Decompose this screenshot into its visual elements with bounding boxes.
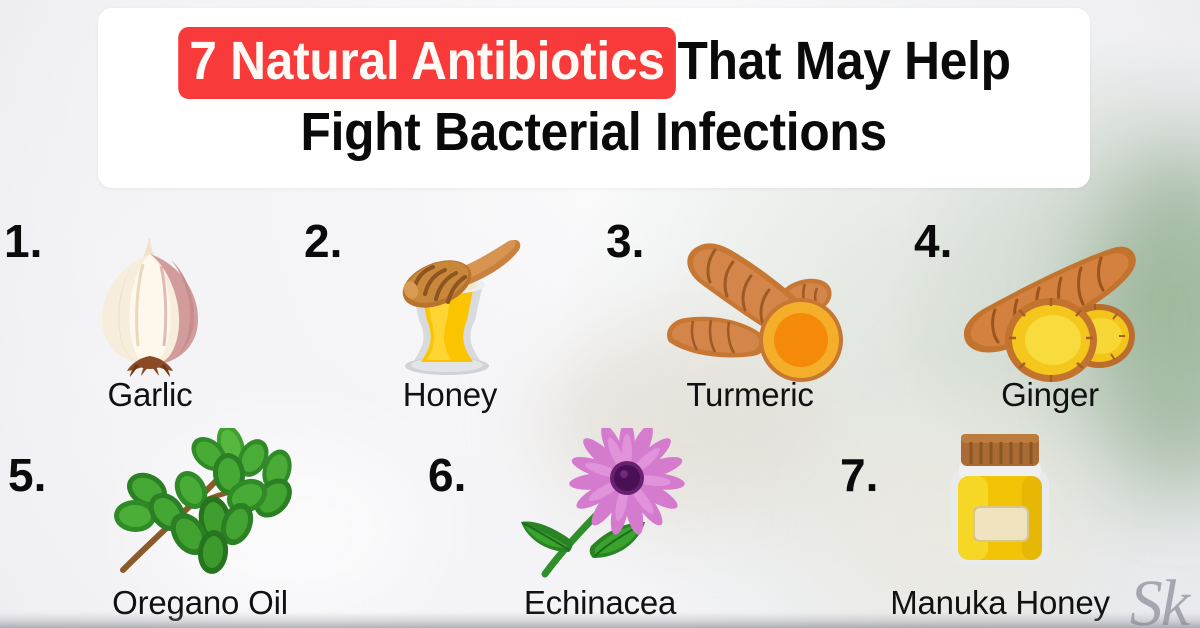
items-row-1: 1. bbox=[0, 200, 1200, 428]
item-number: 3. bbox=[606, 218, 644, 264]
item-ginger: 4. bbox=[900, 200, 1200, 428]
items-row-2: 5. bbox=[0, 424, 1200, 628]
item-label: Oregano Oil bbox=[112, 584, 288, 622]
item-number: 4. bbox=[914, 218, 952, 264]
title-highlight: 7 Natural Antibiotics bbox=[178, 27, 676, 99]
item-number: 5. bbox=[8, 452, 46, 498]
item-label: Turmeric bbox=[686, 376, 813, 414]
title-card: 7 Natural AntibioticsThat May Help Fight… bbox=[98, 8, 1090, 188]
item-garlic: 1. bbox=[0, 200, 300, 428]
title-line-1: 7 Natural AntibioticsThat May Help bbox=[178, 24, 1011, 99]
item-echinacea: 6. bbox=[400, 424, 800, 628]
echinacea-flower-icon bbox=[505, 428, 695, 578]
title-line-1-rest: That May Help bbox=[677, 31, 1010, 91]
item-label: Echinacea bbox=[524, 584, 676, 622]
garlic-icon bbox=[75, 224, 225, 384]
infographic-page: 7 Natural AntibioticsThat May Help Fight… bbox=[0, 0, 1200, 628]
ginger-root-icon bbox=[955, 224, 1145, 384]
item-turmeric: 3. bbox=[600, 200, 900, 428]
item-number: 1. bbox=[4, 218, 42, 264]
item-label: Honey bbox=[403, 376, 497, 414]
item-label: Manuka Honey bbox=[890, 584, 1110, 622]
item-manuka-honey: 7. bbox=[800, 424, 1200, 628]
honey-jar-icon bbox=[925, 428, 1075, 578]
title-line-2: Fight Bacterial Infections bbox=[301, 95, 887, 169]
item-honey: 2. bbox=[300, 200, 600, 428]
item-oregano-oil: 5. bbox=[0, 424, 400, 628]
oregano-sprig-icon bbox=[105, 428, 295, 578]
item-number: 7. bbox=[840, 452, 878, 498]
honey-dipper-icon bbox=[365, 224, 535, 384]
item-label: Ginger bbox=[1001, 376, 1099, 414]
item-number: 2. bbox=[304, 218, 342, 264]
item-number: 6. bbox=[428, 452, 466, 498]
turmeric-root-icon bbox=[655, 224, 845, 384]
item-label: Garlic bbox=[108, 376, 193, 414]
